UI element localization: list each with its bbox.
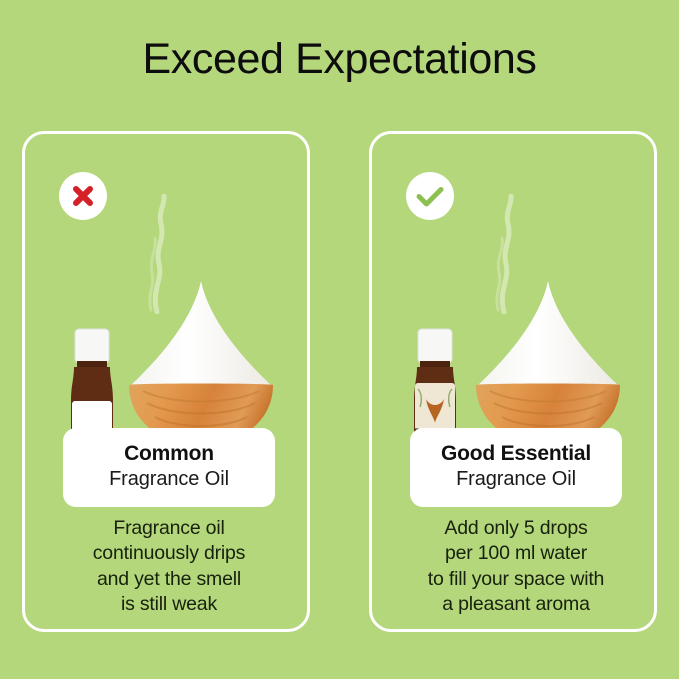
product-description: Fragrance oil continuously drips and yet… [31,516,307,617]
product-kind: Fragrance Oil [73,467,265,492]
comparison-card-good-essential: PUMPKIN PIE PREMIUM FRAGRANCE OIL NET 0.… [369,131,657,632]
product-kind: Fragrance Oil [420,467,612,492]
product-brand: Common [73,441,265,467]
page-title: Exceed Expectations [0,36,679,83]
comparison-card-common: Common Fragrance Oil Fragrance oil conti… [22,131,310,632]
product-brand: Good Essential [420,441,612,467]
product-description: Add only 5 drops per 100 ml water to fil… [378,516,654,617]
product-name-pill-common: Common Fragrance Oil [63,428,275,507]
product-name-pill-good-essential: Good Essential Fragrance Oil [410,428,622,507]
